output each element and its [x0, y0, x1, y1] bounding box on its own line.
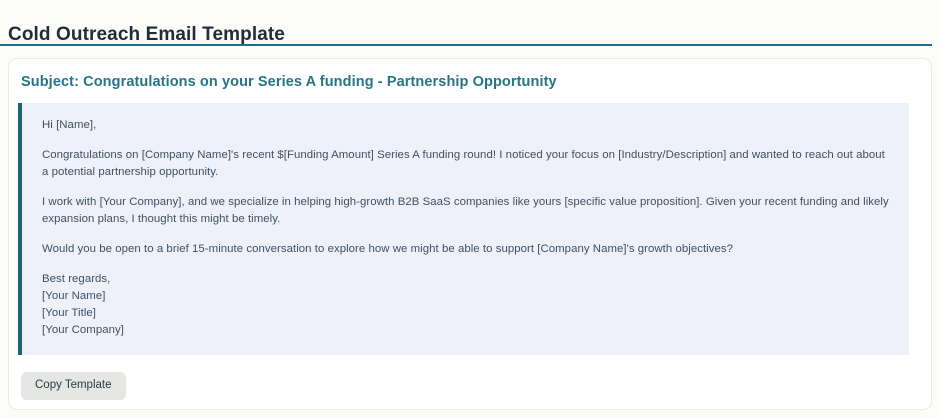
email-template-page: Cold Outreach Email Template Subject: Co… — [0, 0, 940, 418]
template-card: Subject: Congratulations on your Series … — [8, 58, 932, 410]
signature-closing: Best regards, — [42, 271, 891, 288]
email-signature: Best regards, [Your Name] [Your Title] [… — [42, 271, 891, 339]
email-paragraph-3: Would you be open to a brief 15-minute c… — [42, 241, 891, 258]
email-subject-heading: Subject: Congratulations on your Series … — [21, 74, 557, 90]
email-greeting: Hi [Name], — [42, 117, 891, 134]
email-paragraph-1: Congratulations on [Company Name]'s rece… — [42, 147, 891, 181]
email-paragraph-2: I work with [Your Company], and we speci… — [42, 194, 891, 228]
page-title: Cold Outreach Email Template — [8, 24, 285, 46]
signature-title: [Your Title] — [42, 305, 891, 322]
signature-name: [Your Name] — [42, 288, 891, 305]
email-body-panel: Hi [Name], Congratulations on [Company N… — [18, 103, 909, 355]
copy-template-button[interactable]: Copy Template — [21, 372, 126, 400]
signature-company: [Your Company] — [42, 322, 891, 339]
title-divider — [0, 44, 932, 46]
